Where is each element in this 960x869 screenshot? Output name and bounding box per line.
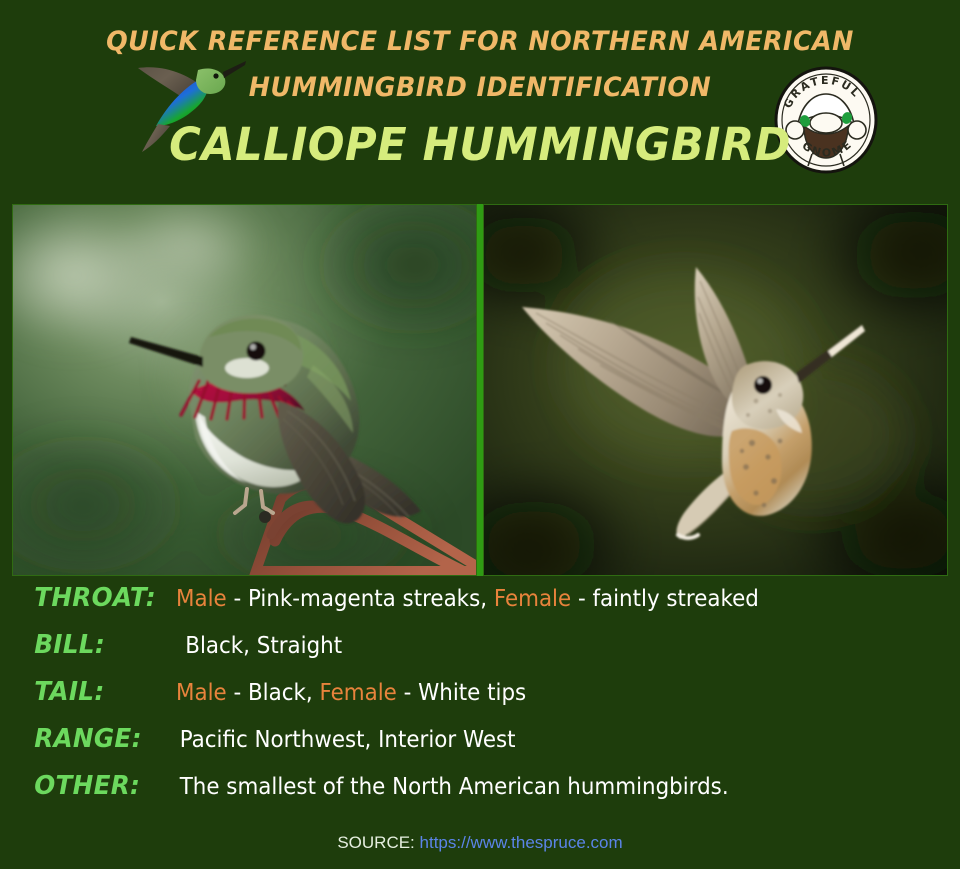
fact-row-other: OTHER: The smallest of the North America… <box>0 771 960 818</box>
male-calliope-hummingbird-photo <box>12 204 477 576</box>
range-desc: Pacific Northwest, Interior West <box>180 727 516 753</box>
fact-value-throat: Male - Pink-magenta streaks, Female - fa… <box>176 586 759 612</box>
source-label: SOURCE: <box>337 833 414 852</box>
throat-female-tag: Female <box>494 586 571 612</box>
fact-row-tail: TAIL: Male - Black, Female - White tips <box>0 677 960 724</box>
fact-list: THROAT: Male - Pink-magenta streaks, Fem… <box>0 583 960 818</box>
fact-label-bill: BILL: <box>0 630 167 660</box>
tail-female-desc: - White tips <box>397 680 526 706</box>
bill-desc: Black, Straight <box>185 633 342 659</box>
fact-value-tail: Male - Black, Female - White tips <box>176 680 526 706</box>
fact-row-bill: BILL: Black, Straight <box>0 630 960 677</box>
source-line: SOURCE: https://www.thespruce.com <box>0 833 960 853</box>
photo-strip <box>12 204 948 576</box>
fact-row-range: RANGE: Pacific Northwest, Interior West <box>0 724 960 771</box>
poster-header: GRATEFUL GNOME Quick Reference List for … <box>0 0 960 196</box>
fact-value-other: The smallest of the North American hummi… <box>176 774 729 800</box>
fact-label-throat: THROAT: <box>0 583 167 613</box>
poster-title-line-2: Hummingbird Identification <box>29 72 931 103</box>
other-desc: The smallest of the North American hummi… <box>180 774 729 800</box>
female-calliope-hummingbird-photo <box>483 204 948 576</box>
poster-title-line-1: Quick Reference List for Northern Americ… <box>29 26 931 57</box>
tail-male-tag: Male <box>176 680 227 706</box>
hummingbird-reference-poster: GRATEFUL GNOME Quick Reference List for … <box>0 0 960 869</box>
throat-male-desc: - Pink-magenta streaks, <box>227 586 494 612</box>
fact-label-tail: TAIL: <box>0 677 167 707</box>
fact-value-range: Pacific Northwest, Interior West <box>176 727 516 753</box>
fact-label-other: OTHER: <box>0 771 167 801</box>
fact-value-bill: Black, Straight <box>176 633 342 659</box>
source-url-link[interactable]: https://www.thespruce.com <box>420 833 623 852</box>
throat-male-tag: Male <box>176 586 227 612</box>
fact-row-throat: THROAT: Male - Pink-magenta streaks, Fem… <box>0 583 960 630</box>
tail-male-desc: - Black, <box>227 680 320 706</box>
fact-label-range: RANGE: <box>0 724 167 754</box>
species-name: Calliope Hummingbird <box>19 118 941 171</box>
tail-female-tag: Female <box>319 680 396 706</box>
throat-female-desc: - faintly streaked <box>571 586 759 612</box>
